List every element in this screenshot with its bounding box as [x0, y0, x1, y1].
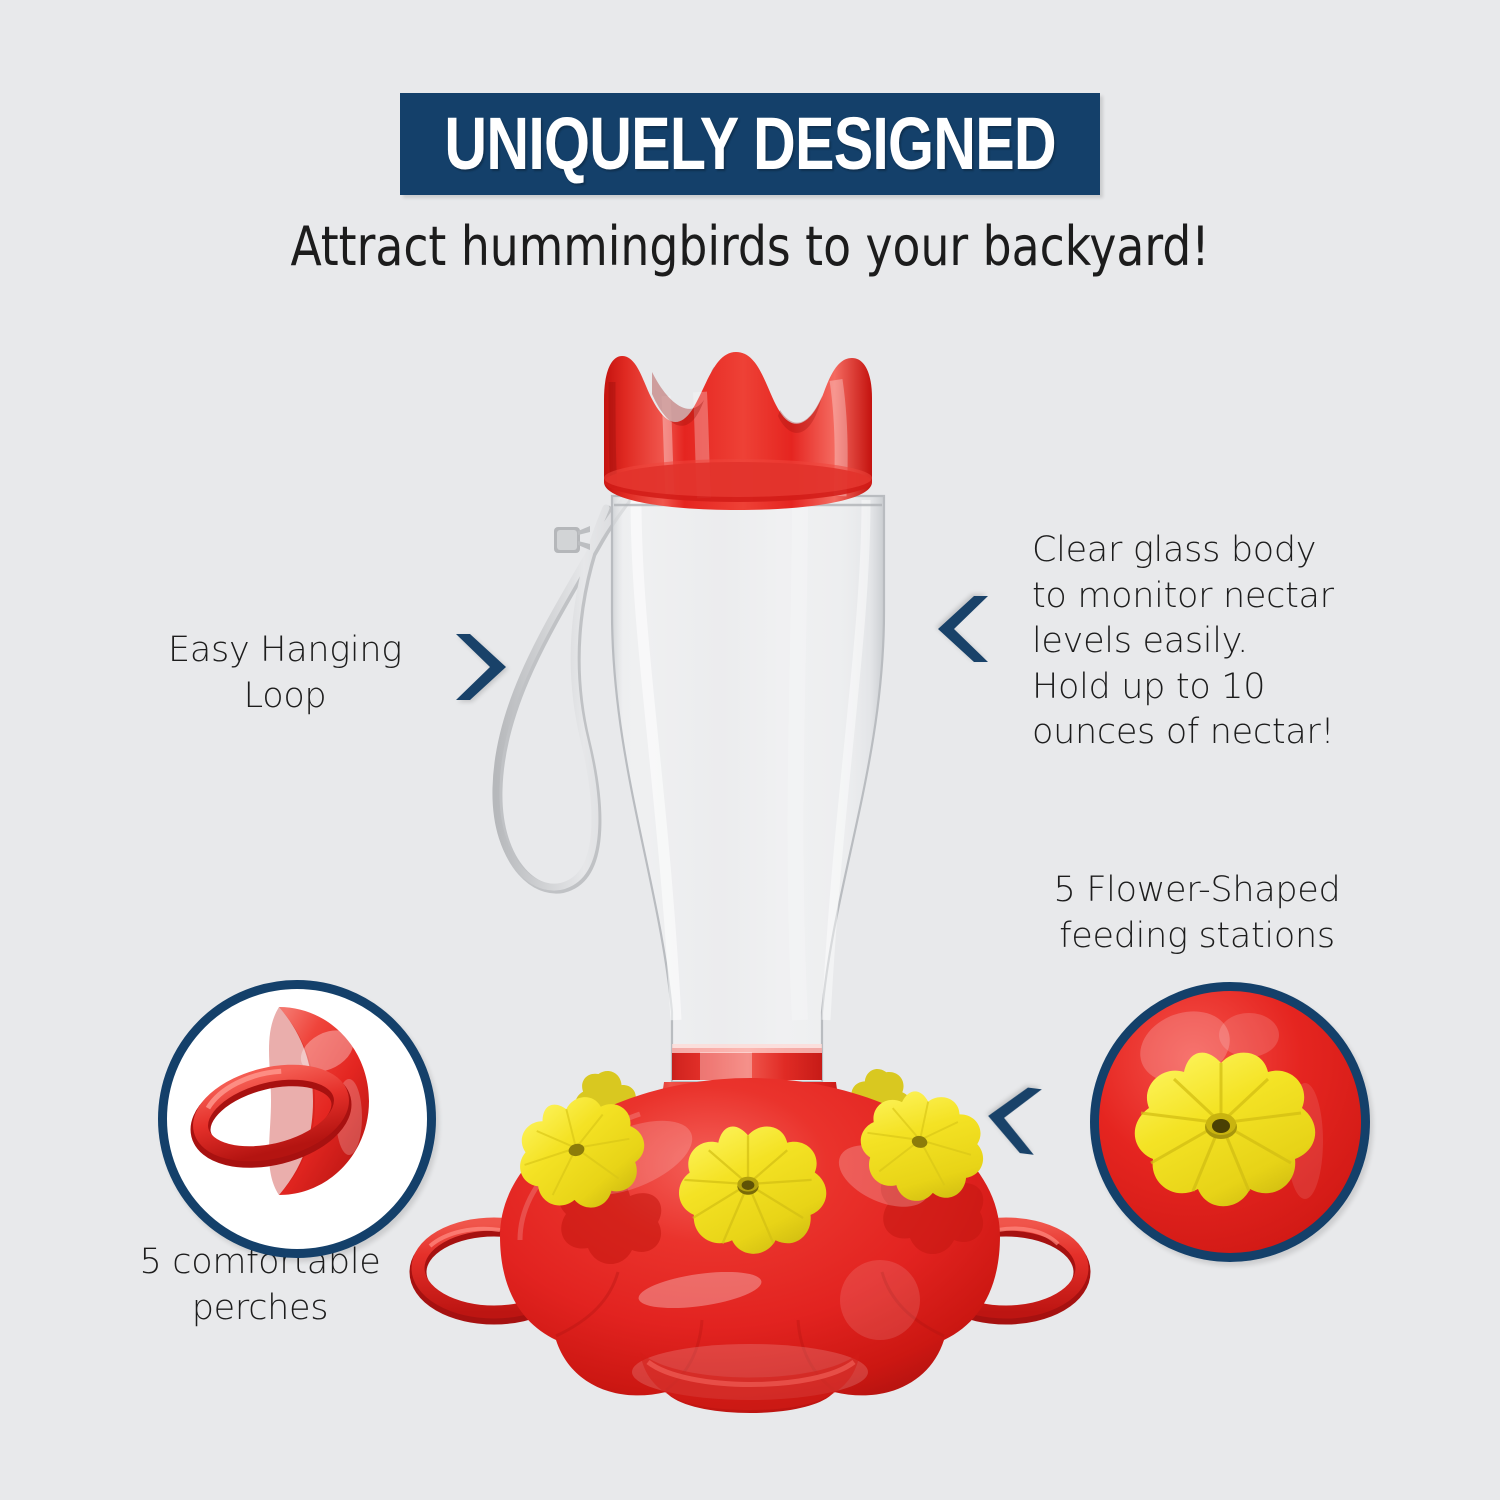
callout-glass-line-4: Hold up to 10: [1032, 665, 1372, 711]
inset-flower-closeup: [1090, 982, 1370, 1262]
callout-glass-line-1: Clear glass body: [1032, 528, 1372, 574]
callout-flowers-line-1: 5 Flower-Shaped: [1022, 868, 1372, 914]
chevron-right-icon: [450, 630, 512, 704]
callout-hanging-loop-line-2: Loop: [150, 674, 420, 720]
callout-glass-line-3: levels easily.: [1032, 619, 1372, 665]
callout-clear-glass-body: Clear glass body to monitor nectar level…: [1032, 528, 1372, 756]
callout-perches-line-2: perches: [110, 1286, 410, 1332]
callout-comfortable-perches: 5 comfortable perches: [110, 1240, 410, 1331]
cord-clamp: [554, 526, 590, 553]
flower-center-front: [679, 1126, 826, 1253]
inset-perch-closeup: [158, 980, 436, 1258]
callout-flowers-line-2: feeding stations: [1022, 914, 1372, 960]
glass-reservoir: [612, 496, 884, 1090]
callout-hanging-loop-line-1: Easy Hanging: [150, 628, 420, 674]
chevron-left-icon: [932, 592, 994, 666]
callout-glass-line-5: ounces of nectar!: [1032, 710, 1372, 756]
infographic-page: UNIQUELY DESIGNED Attract hummingbirds t…: [0, 0, 1500, 1500]
callout-feeding-stations: 5 Flower-Shaped feeding stations: [1022, 868, 1372, 959]
feeder-cap: [604, 352, 872, 510]
callout-hanging-loop: Easy Hanging Loop: [150, 628, 420, 719]
chevron-left-icon: [978, 1078, 1049, 1159]
callout-glass-line-2: to monitor nectar: [1032, 574, 1372, 620]
